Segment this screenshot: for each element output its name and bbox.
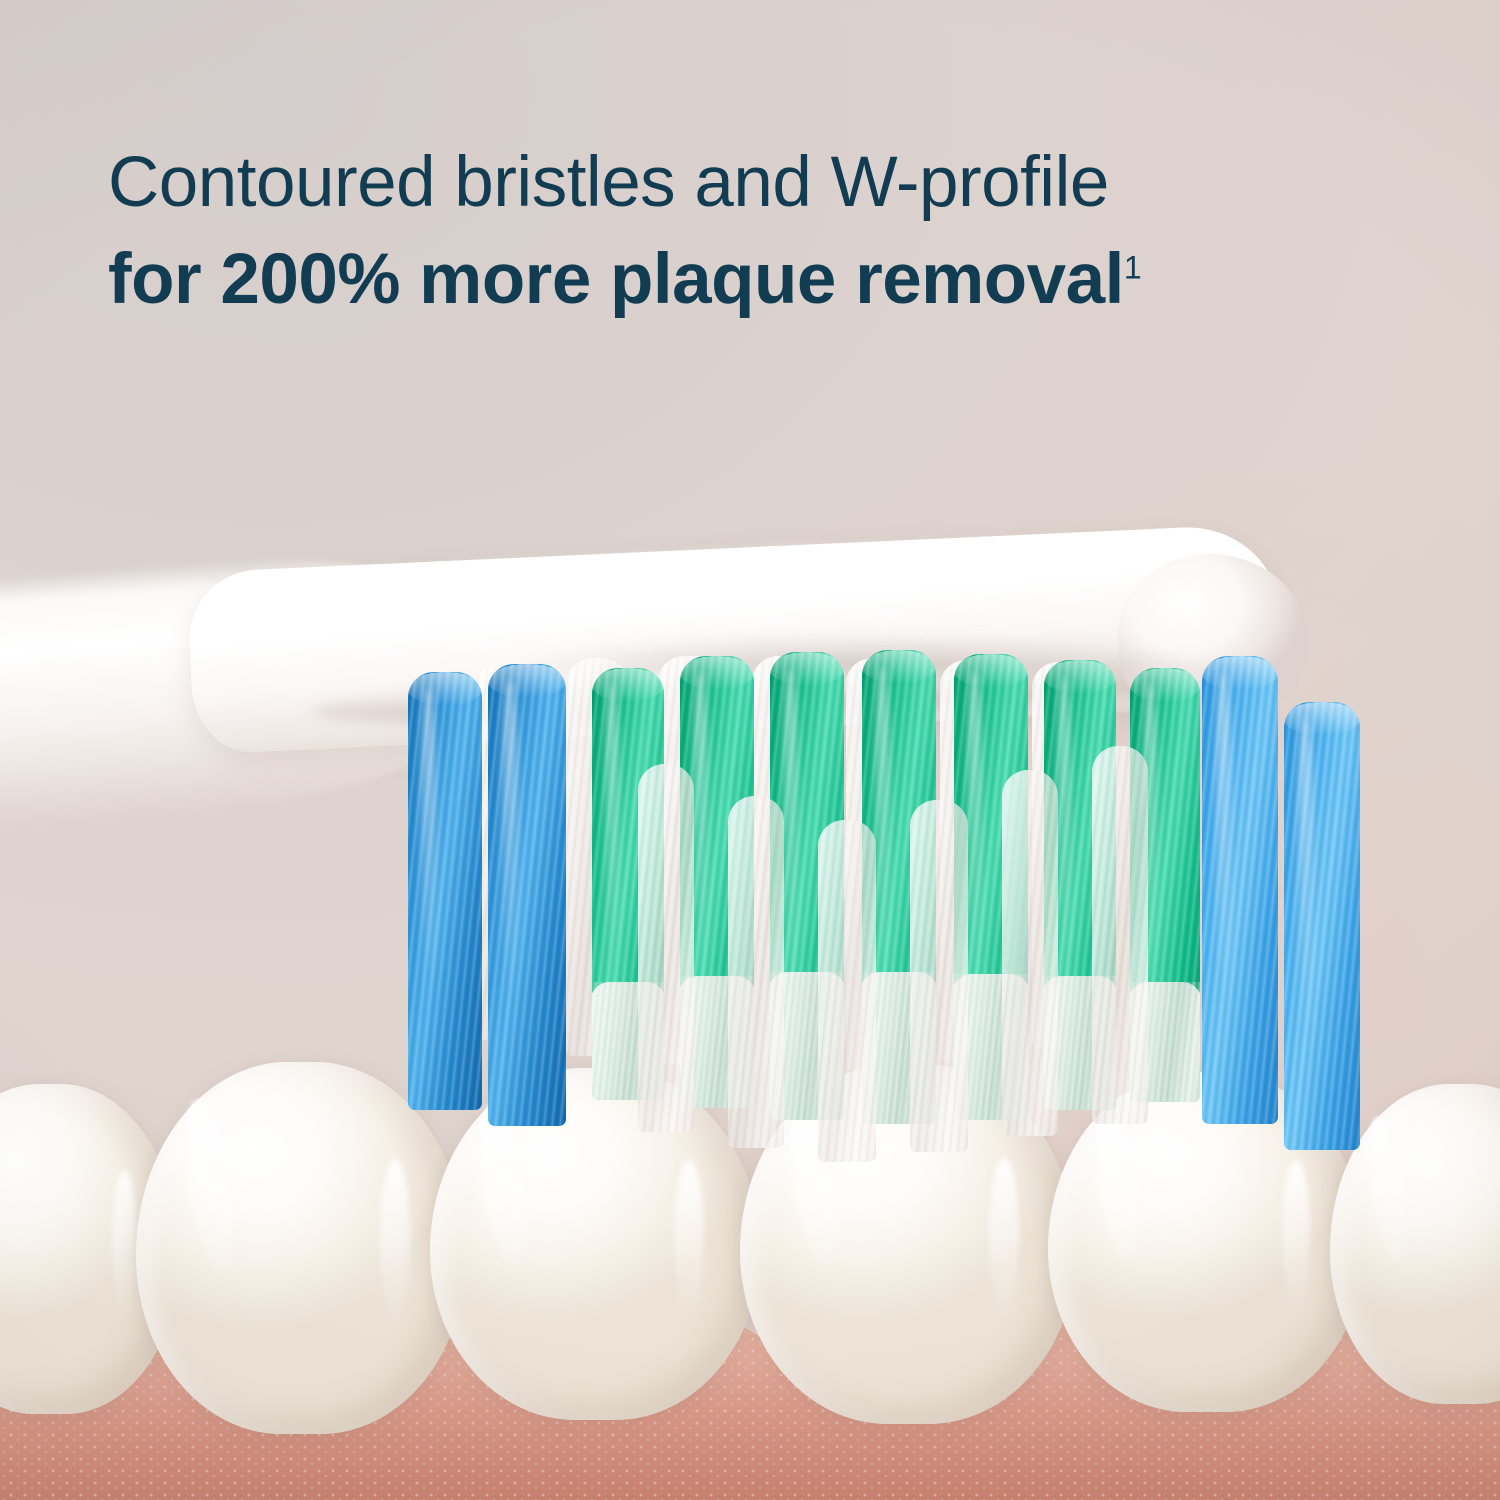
product-feature-image: Contoured bristles and W-profile for 200… [0,0,1500,1500]
background-vignette [0,0,1500,1500]
